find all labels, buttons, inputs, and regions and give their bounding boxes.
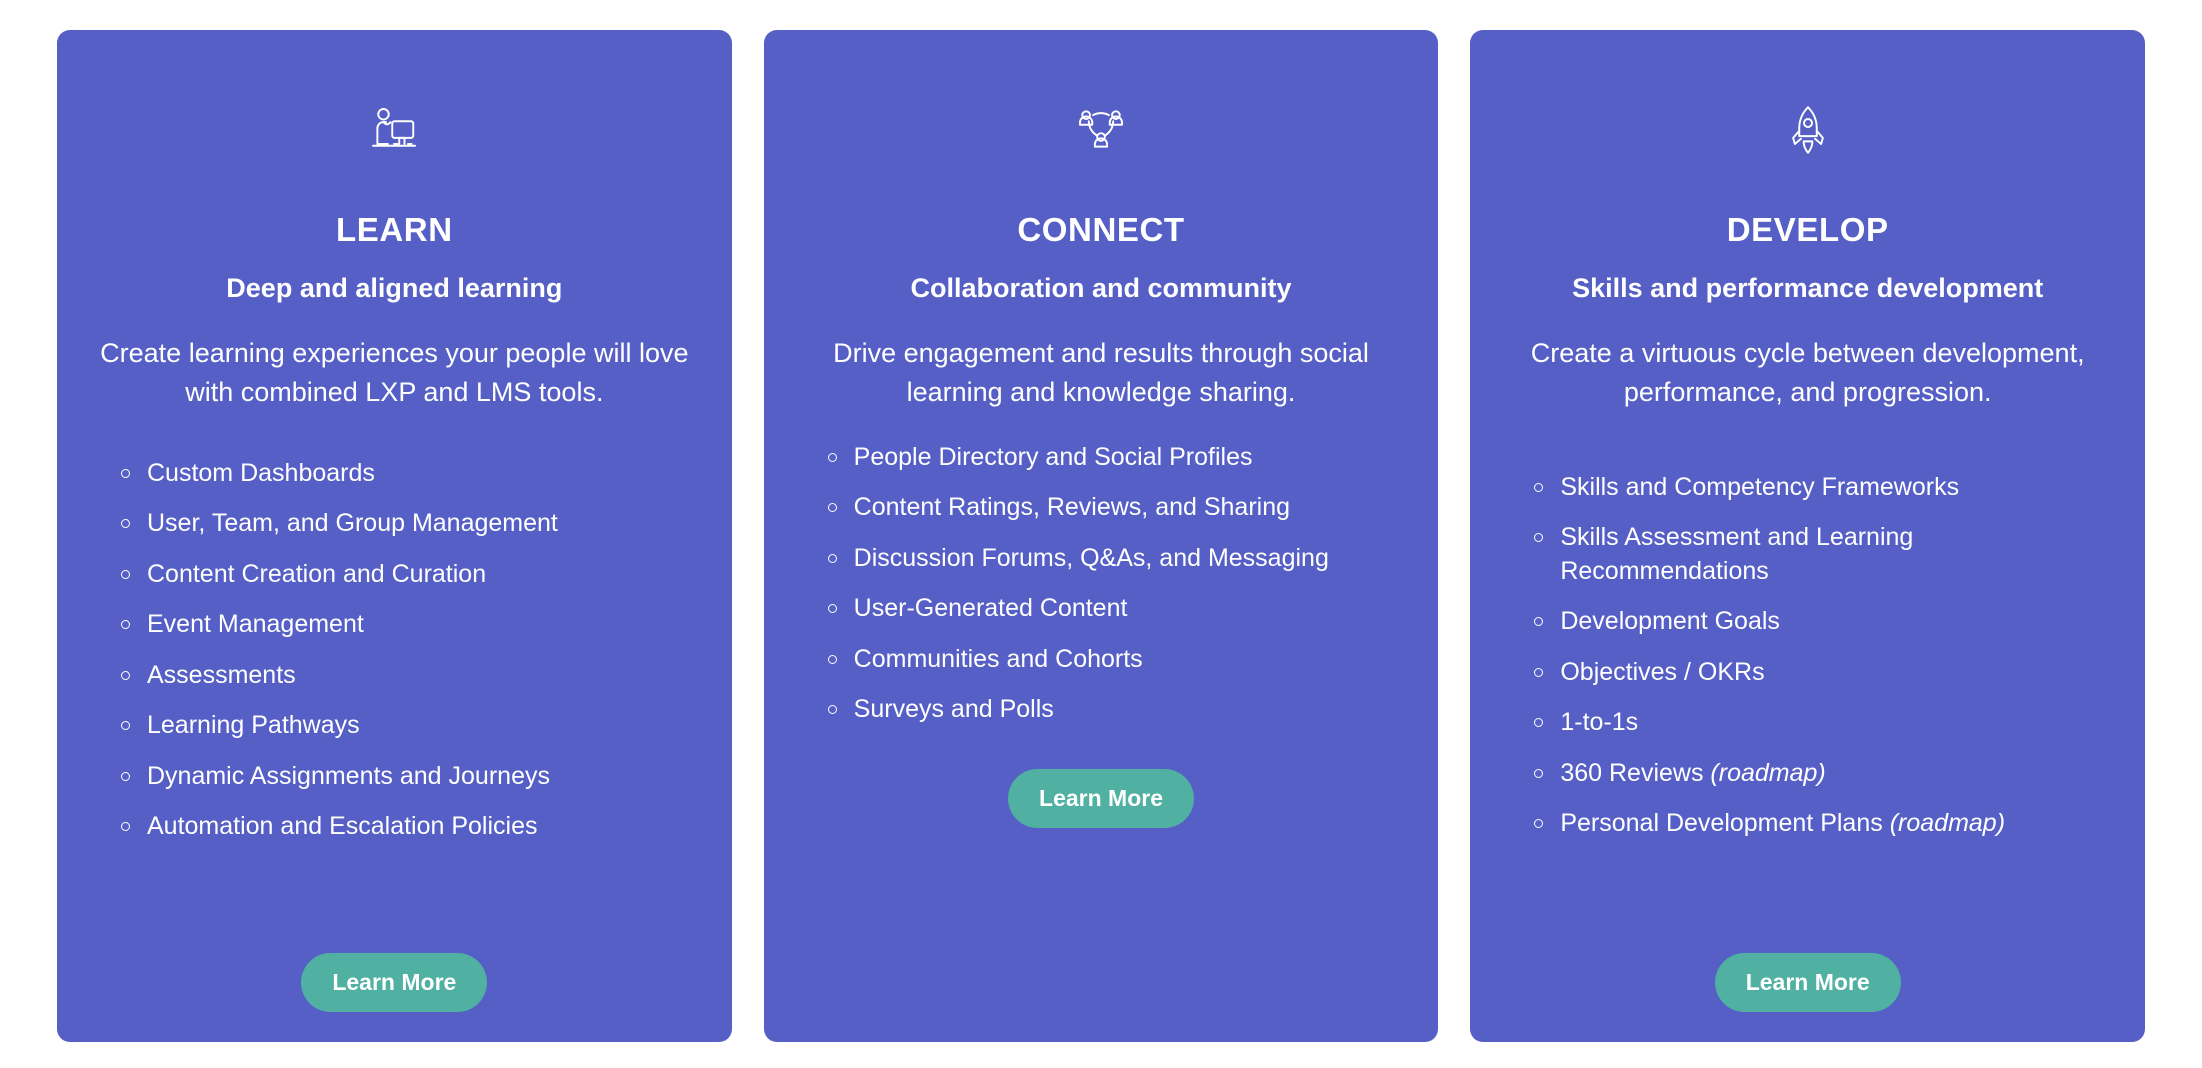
feature-list: People Directory and Social Profiles Con… xyxy=(800,441,1403,727)
card-description: Create learning experiences your people … xyxy=(93,334,696,413)
cta-container: Learn More xyxy=(1506,923,2109,1012)
list-item: Surveys and Polls xyxy=(826,693,1403,727)
list-item: Development Goals xyxy=(1532,605,2109,639)
feature-label: Assessments xyxy=(147,661,296,689)
card-subtitle: Deep and aligned learning xyxy=(226,271,562,306)
people-network-icon xyxy=(1073,102,1129,158)
card-subtitle: Skills and performance development xyxy=(1572,271,2043,306)
list-item: Automation and Escalation Policies xyxy=(119,810,696,844)
feature-label: Content Ratings, Reviews, and Sharing xyxy=(854,493,1290,521)
list-item: Objectives / OKRs xyxy=(1532,656,2109,690)
list-item: Custom Dashboards xyxy=(119,457,696,491)
feature-cards-row: LEARN Deep and aligned learning Create l… xyxy=(0,0,2202,1068)
feature-label: Discussion Forums, Q&As, and Messaging xyxy=(854,544,1329,572)
list-item: People Directory and Social Profiles xyxy=(826,441,1403,475)
rocket-icon xyxy=(1780,102,1836,158)
learn-more-button[interactable]: Learn More xyxy=(1715,953,1901,1012)
list-item: User-Generated Content xyxy=(826,592,1403,626)
list-item: Learning Pathways xyxy=(119,709,696,743)
feature-card-develop: DEVELOP Skills and performance developme… xyxy=(1470,30,2145,1042)
feature-label: Dynamic Assignments and Journeys xyxy=(147,762,550,790)
person-at-computer-icon xyxy=(366,102,422,158)
feature-list: Skills and Competency Frameworks Skills … xyxy=(1506,471,2109,841)
list-item: Personal Development Plans (roadmap) xyxy=(1532,807,2109,841)
feature-label: 1-to-1s xyxy=(1560,708,1638,736)
list-item: Discussion Forums, Q&As, and Messaging xyxy=(826,542,1403,576)
cta-container: Learn More xyxy=(800,727,1403,828)
list-item: Communities and Cohorts xyxy=(826,643,1403,677)
feature-label: Custom Dashboards xyxy=(147,459,375,487)
feature-label: Content Creation and Curation xyxy=(147,560,486,588)
list-item: Content Creation and Curation xyxy=(119,558,696,592)
card-description: Create a virtuous cycle between developm… xyxy=(1506,334,2109,413)
feature-label: Communities and Cohorts xyxy=(854,645,1143,673)
list-item: 360 Reviews (roadmap) xyxy=(1532,757,2109,791)
card-title: LEARN xyxy=(336,210,453,250)
feature-label: Learning Pathways xyxy=(147,711,360,739)
feature-label: People Directory and Social Profiles xyxy=(854,443,1253,471)
list-item: Skills Assessment and Learning Recommend… xyxy=(1532,521,2109,588)
learn-more-button[interactable]: Learn More xyxy=(301,953,487,1012)
card-title: CONNECT xyxy=(1017,210,1184,250)
list-item: Dynamic Assignments and Journeys xyxy=(119,760,696,794)
learn-more-button[interactable]: Learn More xyxy=(1008,769,1194,828)
feature-label: 360 Reviews xyxy=(1560,759,1710,787)
feature-label: User, Team, and Group Management xyxy=(147,509,558,537)
feature-label: Personal Development Plans xyxy=(1560,809,1889,837)
feature-label: Skills and Competency Frameworks xyxy=(1560,473,1959,501)
feature-label: Development Goals xyxy=(1560,607,1780,635)
cta-container: Learn More xyxy=(93,919,696,1012)
card-description: Drive engagement and results through soc… xyxy=(800,334,1403,413)
card-subtitle: Collaboration and community xyxy=(910,271,1291,306)
feature-card-learn: LEARN Deep and aligned learning Create l… xyxy=(57,30,732,1042)
list-item: 1-to-1s xyxy=(1532,706,2109,740)
list-item: Content Ratings, Reviews, and Sharing xyxy=(826,491,1403,525)
feature-card-connect: CONNECT Collaboration and community Driv… xyxy=(764,30,1439,1042)
list-item: Skills and Competency Frameworks xyxy=(1532,471,2109,505)
list-item: Assessments xyxy=(119,659,696,693)
feature-note: (roadmap) xyxy=(1890,809,2005,837)
feature-label: Event Management xyxy=(147,610,364,638)
card-title: DEVELOP xyxy=(1727,210,1889,250)
feature-label: Automation and Escalation Policies xyxy=(147,812,538,840)
list-item: User, Team, and Group Management xyxy=(119,507,696,541)
feature-label: Surveys and Polls xyxy=(854,695,1054,723)
feature-label: Skills Assessment and Learning Recommend… xyxy=(1560,523,1913,585)
feature-list: Custom Dashboards User, Team, and Group … xyxy=(93,457,696,844)
feature-label: Objectives / OKRs xyxy=(1560,658,1764,686)
feature-label: User-Generated Content xyxy=(854,594,1128,622)
feature-note: (roadmap) xyxy=(1710,759,1825,787)
list-item: Event Management xyxy=(119,608,696,642)
